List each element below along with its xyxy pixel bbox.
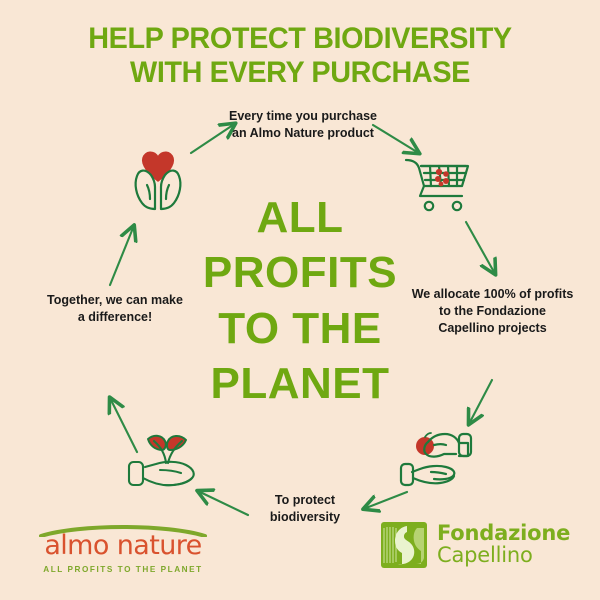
center-headline: ALL PROFITS TO THE PLANET (180, 190, 420, 412)
almo-nature-logo: almo nature ALL PROFITS TO THE PLANET (33, 523, 213, 575)
title-line-1: HELP PROTECT BIODIVERSITY (12, 22, 588, 56)
hand-holding-sprout-icon (120, 420, 210, 496)
arrow-hand-to-protect (366, 492, 407, 508)
shopping-cart-icon (400, 150, 476, 216)
almo-nature-wordmark: almo nature (33, 530, 213, 561)
fondazione-line-2: Capellino (437, 544, 561, 567)
center-line-2: PROFITS (180, 245, 420, 300)
infographic-canvas: HELP PROTECT BIODIVERSITY WITH EVERY PUR… (0, 0, 600, 600)
title-line-2: WITH EVERY PURCHASE (12, 56, 588, 90)
hand-holding-fruit-icon (398, 420, 484, 492)
caption-protect: To protect biodiversity (240, 492, 370, 526)
caption-together: Together, we can make a difference! (45, 292, 185, 326)
arrow-together-to-heart (110, 228, 133, 285)
center-line-1: ALL (180, 190, 420, 245)
page-title: HELP PROTECT BIODIVERSITY WITH EVERY PUR… (12, 22, 588, 90)
fondazione-capellino-logo: Fondazione Capellino (381, 520, 561, 572)
arrow-cart-to-allocate (466, 222, 494, 272)
caption-purchase: Every time you purchase an Almo Nature p… (222, 108, 384, 142)
hands-holding-heart-icon (118, 143, 198, 215)
center-line-3: TO THE (180, 301, 420, 356)
fondazione-line-1: Fondazione (437, 522, 561, 544)
fondazione-capellino-wordmark: Fondazione Capellino (437, 522, 561, 567)
arrow-allocate-to-hand (470, 380, 492, 422)
center-line-4: PLANET (180, 356, 420, 411)
fondazione-capellino-mark-icon (381, 522, 427, 568)
almo-nature-tagline: ALL PROFITS TO THE PLANET (33, 565, 213, 574)
caption-allocate: We allocate 100% of profits to the Fonda… (410, 286, 575, 337)
